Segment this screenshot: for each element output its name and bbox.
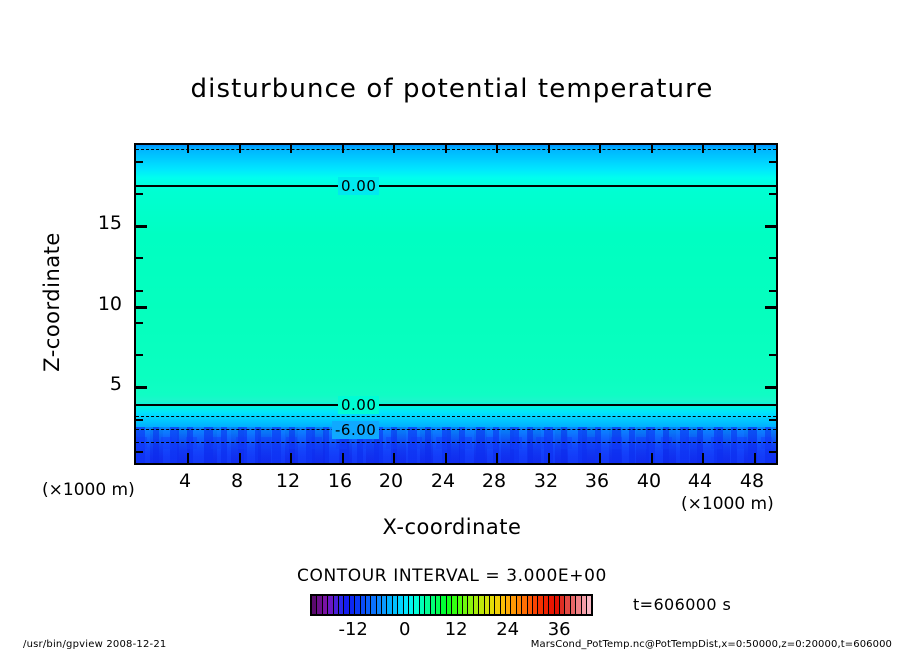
tick-left-minor-8: [136, 419, 143, 421]
tick-left-minor-11: [136, 354, 143, 356]
tick-left-minor-7: [136, 451, 143, 453]
surface-noise-band-secondary: [136, 437, 776, 449]
colorbar-tick-label-24: 24: [496, 619, 519, 640]
y-tick-label-15: 15: [98, 212, 122, 234]
x-tick-label-44: 44: [688, 470, 712, 492]
tick-left-minor-12: [136, 322, 143, 324]
contour-interval-label: CONTOUR INTERVAL = 3.000E+00: [0, 566, 904, 586]
tick-right-minor-7: [769, 451, 776, 453]
y-axis-title: Z-coordinate: [40, 207, 64, 397]
x-tick-label-32: 32: [534, 470, 558, 492]
tick-right-minor-14: [769, 257, 776, 259]
colorbar-tick-labels: -12 0 12 24 36: [310, 619, 593, 641]
tick-top-8: [548, 145, 550, 153]
tick-bottom-28: [496, 453, 498, 463]
x-tick-label-40: 40: [637, 470, 661, 492]
x-tick-label-12: 12: [276, 470, 300, 492]
tick-top-11: [702, 145, 704, 153]
tick-right-major-10: [765, 306, 776, 309]
y-axis-tick-labels: 5 10 15: [78, 143, 122, 465]
tick-bottom-4: [187, 453, 189, 463]
tick-right-major-5: [765, 386, 776, 389]
tick-top-4: [342, 145, 344, 153]
x-tick-label-24: 24: [431, 470, 455, 492]
tick-left-minor-17: [136, 193, 143, 195]
x-axis-unit-right: (×1000 m): [681, 494, 774, 514]
colorbar-tick-label--12: -12: [338, 619, 367, 640]
colorbar-tick-label-0: 0: [399, 619, 410, 640]
contour-label-zero-lower: 0.00: [338, 396, 379, 414]
y-tick-label-5: 5: [110, 373, 122, 395]
tick-left-major-10: [136, 306, 147, 309]
footer-dataset-path: MarsCond_PotTemp.nc@PotTempDist,x=0:5000…: [531, 639, 892, 650]
x-axis-unit-left: (×1000 m): [42, 480, 135, 500]
tick-left-minor-14: [136, 257, 143, 259]
tick-right-minor-8: [769, 419, 776, 421]
contour-line-minus-six: [136, 429, 776, 430]
colorbar-tick-label-12: 12: [445, 619, 468, 640]
tick-right-minor-13: [769, 290, 776, 292]
x-tick-label-16: 16: [328, 470, 352, 492]
tick-bottom-32: [548, 453, 550, 463]
tick-bottom-20: [393, 453, 395, 463]
tick-bottom-24: [445, 453, 447, 463]
tick-left-minor-19: [136, 161, 143, 163]
page-title: disturbunce of potential temperature: [0, 74, 904, 104]
y-tick-label-10: 10: [98, 293, 122, 315]
tick-right-minor-17: [769, 193, 776, 195]
contour-line-zero-lower: [136, 404, 776, 406]
tick-right-minor-19: [769, 161, 776, 163]
tick-top-12: [754, 145, 756, 153]
x-tick-label-4: 4: [179, 470, 191, 492]
colorbar-tick-label-36: 36: [548, 619, 571, 640]
tick-top-3: [290, 145, 292, 153]
colorbar-swatch-51: [587, 596, 591, 614]
x-tick-label-48: 48: [740, 470, 764, 492]
tick-right-major-15: [765, 225, 776, 228]
tick-left-major-5: [136, 386, 147, 389]
contour-line-zero-upper: [136, 185, 776, 187]
tick-bottom-16: [342, 453, 344, 463]
tick-top-1: [187, 145, 189, 153]
x-tick-label-8: 8: [231, 470, 243, 492]
contour-label-zero-upper: 0.00: [338, 177, 379, 195]
tick-right-minor-11: [769, 354, 776, 356]
tick-bottom-12: [290, 453, 292, 463]
x-tick-label-20: 20: [379, 470, 403, 492]
tick-bottom-44: [702, 453, 704, 463]
x-axis-title: X-coordinate: [0, 515, 904, 539]
tick-left-minor-13: [136, 290, 143, 292]
contour-plot-panel[interactable]: 0.00 0.00 -6.00: [134, 143, 778, 465]
tick-left-major-15: [136, 225, 147, 228]
tick-bottom-40: [651, 453, 653, 463]
contour-line-dashed-upper: [136, 149, 776, 150]
contour-label-minus-six: -6.00: [332, 421, 379, 439]
tick-top-10: [651, 145, 653, 153]
x-tick-label-28: 28: [482, 470, 506, 492]
tick-top-5: [393, 145, 395, 153]
footer-command-date: /usr/bin/gpview 2008-12-21: [23, 639, 166, 650]
tick-top-2: [239, 145, 241, 153]
x-axis-tick-labels: 4 8 12 16 20 24 28 32 36 40 44 48: [134, 470, 778, 494]
tick-bottom-36: [599, 453, 601, 463]
contour-line-minus-nine: [136, 442, 776, 443]
contour-line-minus-three: [136, 416, 776, 417]
tick-top-7: [496, 145, 498, 153]
tick-top-9: [599, 145, 601, 153]
x-tick-label-36: 36: [585, 470, 609, 492]
tick-top-6: [445, 145, 447, 153]
tick-bottom-8: [239, 453, 241, 463]
tick-bottom-48: [754, 453, 756, 463]
time-label: t=606000 s: [633, 595, 731, 614]
colorbar[interactable]: [310, 594, 593, 616]
